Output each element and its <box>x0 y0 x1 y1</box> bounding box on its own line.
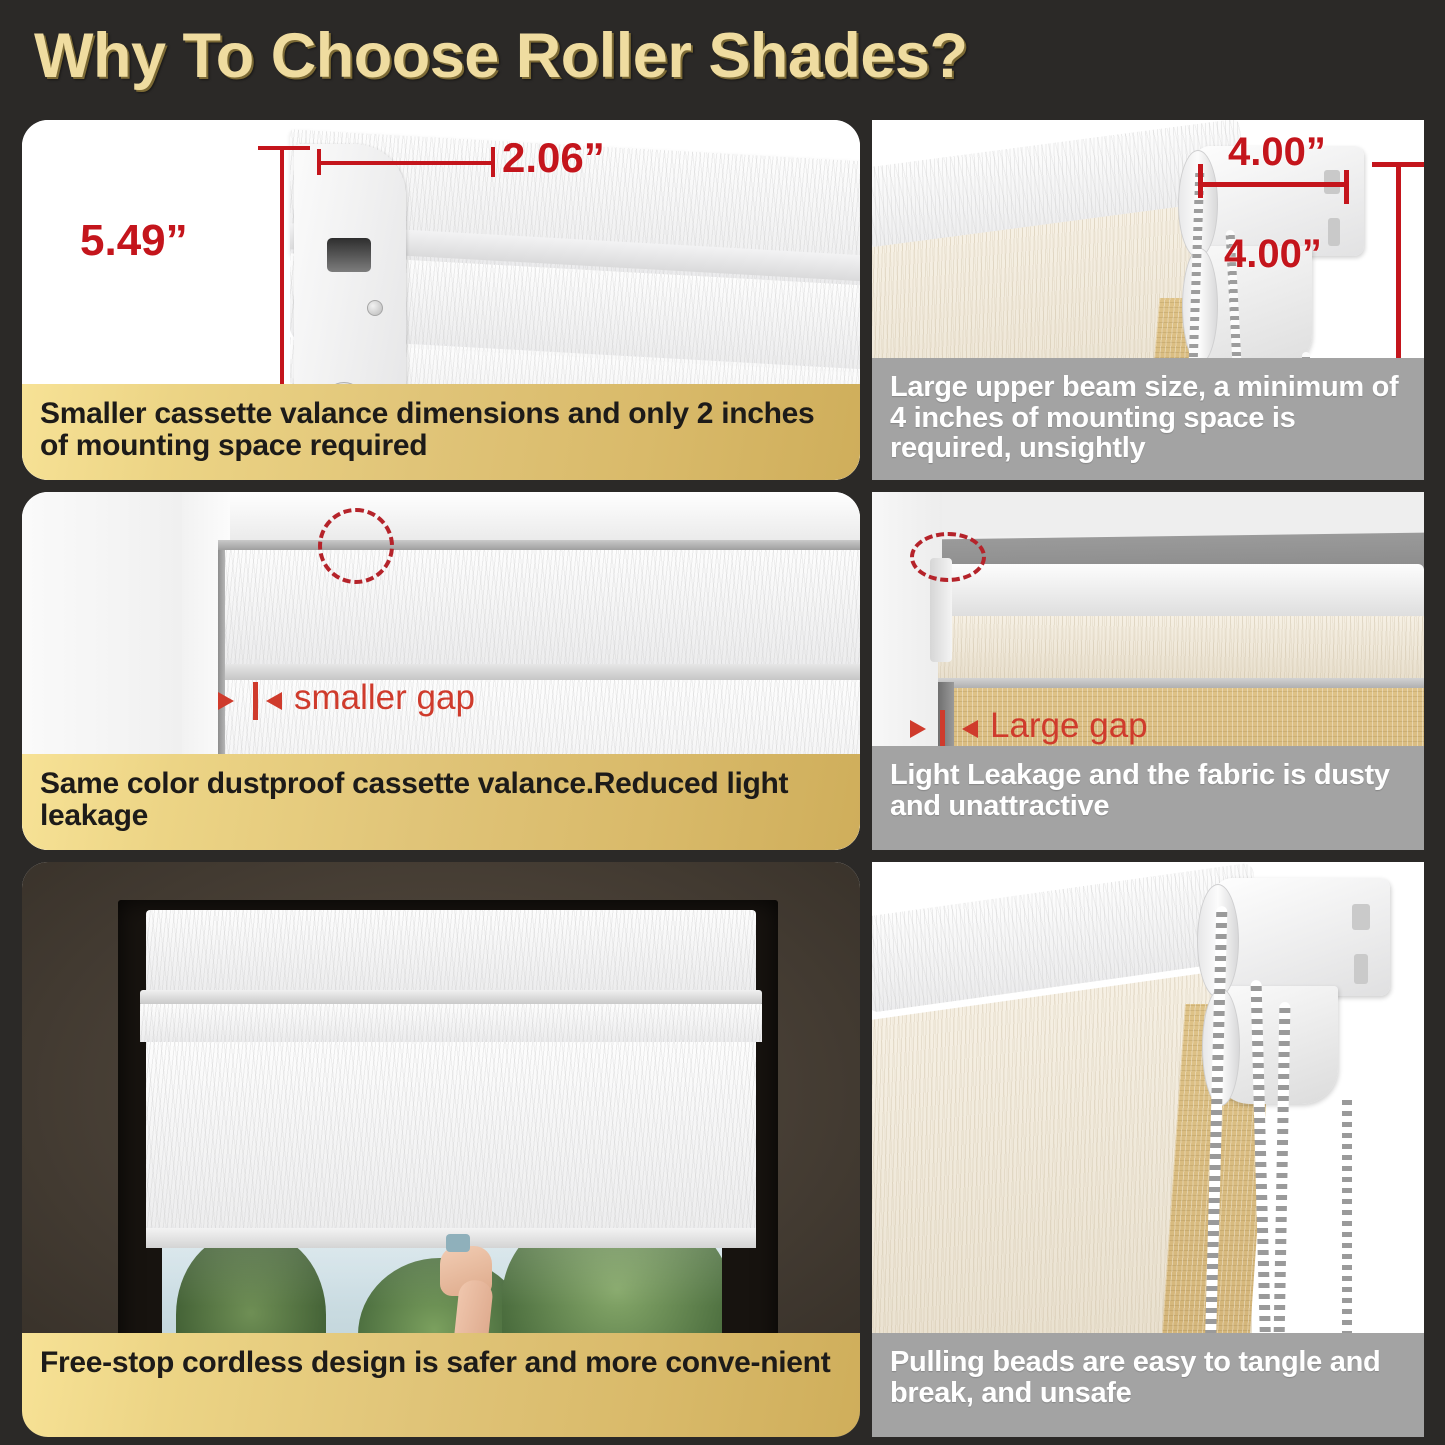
highlight-circle-icon <box>318 508 394 584</box>
width-dim-tick-left <box>1198 164 1203 198</box>
page-title: Why To Choose Roller Shades? <box>34 20 967 92</box>
caption-middle-right: Light Leakage and the fabric is dusty an… <box>872 746 1424 850</box>
gap-arrow-left-icon <box>266 692 282 710</box>
large-gap-label: Large gap <box>990 706 1148 746</box>
mount-slot-2 <box>1328 218 1340 246</box>
width-dimension-label: 4.00” <box>1228 130 1326 175</box>
cream-fabric-band <box>938 616 1424 680</box>
caption-top-left: Smaller cassette valance dimensions and … <box>22 384 860 480</box>
shade-body <box>146 1042 756 1242</box>
height-dimension-label: 5.49” <box>80 216 188 266</box>
width-dim-tick-right <box>1344 170 1349 204</box>
cassette-valance-face <box>222 550 860 668</box>
caption-middle-left: Same color dustproof cassette valance.Re… <box>22 754 860 850</box>
panel-middle-left: smaller gap Same color dustproof cassett… <box>22 492 860 850</box>
headrail-valance <box>146 910 756 994</box>
gap-tick <box>253 682 258 720</box>
gap-arrow-left-icon <box>962 720 978 738</box>
beam-height-dim-line <box>1396 164 1401 374</box>
screw-upper <box>367 300 383 316</box>
valance-top-edge <box>218 540 860 550</box>
ceiling-band <box>872 492 1424 536</box>
gap-tick <box>940 710 945 748</box>
headrail-lower <box>140 1004 762 1042</box>
pull-tab <box>446 1234 470 1252</box>
bracket-slot <box>327 238 371 272</box>
panel-bottom-right: Pulling beads are easy to tangle and bre… <box>872 862 1424 1437</box>
panel-top-right: 4.00” 4.00” Large upper beam size, a min… <box>872 120 1424 480</box>
panel-bottom-left: Free-stop cordless design is safer and m… <box>22 862 860 1437</box>
frame-top-moulding <box>182 492 860 544</box>
width-dim-line <box>1200 182 1348 187</box>
depth-dim-line <box>319 161 495 165</box>
highlight-circle-icon <box>910 532 986 582</box>
beam-height-dimension-label: 4.00” <box>1224 232 1322 277</box>
page-header: Why To Choose Roller Shades? <box>0 0 1445 112</box>
gap-arrow-right-icon <box>910 720 926 738</box>
height-dim-tick-top <box>258 146 310 150</box>
caption-bottom-left: Free-stop cordless design is safer and m… <box>22 1333 860 1437</box>
caption-top-right: Large upper beam size, a minimum of 4 in… <box>872 358 1424 480</box>
beam-height-tick-top <box>1372 162 1424 167</box>
depth-dim-tick-right <box>491 147 495 177</box>
depth-dim-tick-left <box>317 149 321 175</box>
caption-bottom-right: Pulling beads are easy to tangle and bre… <box>872 1333 1424 1437</box>
depth-dimension-label: 2.06” <box>502 134 605 182</box>
mount-slot-2 <box>1354 954 1368 984</box>
comparison-grid: 2.06” 5.49” Smaller cassette valance dim… <box>0 112 1445 1445</box>
panel-middle-right: Large gap Light Leakage and the fabric i… <box>872 492 1424 850</box>
gap-arrow-right-icon <box>218 692 234 710</box>
mount-slot-1 <box>1352 904 1370 930</box>
roller-tube <box>938 564 1424 620</box>
panel-top-left: 2.06” 5.49” Smaller cassette valance dim… <box>22 120 860 480</box>
smaller-gap-label: smaller gap <box>294 678 475 718</box>
